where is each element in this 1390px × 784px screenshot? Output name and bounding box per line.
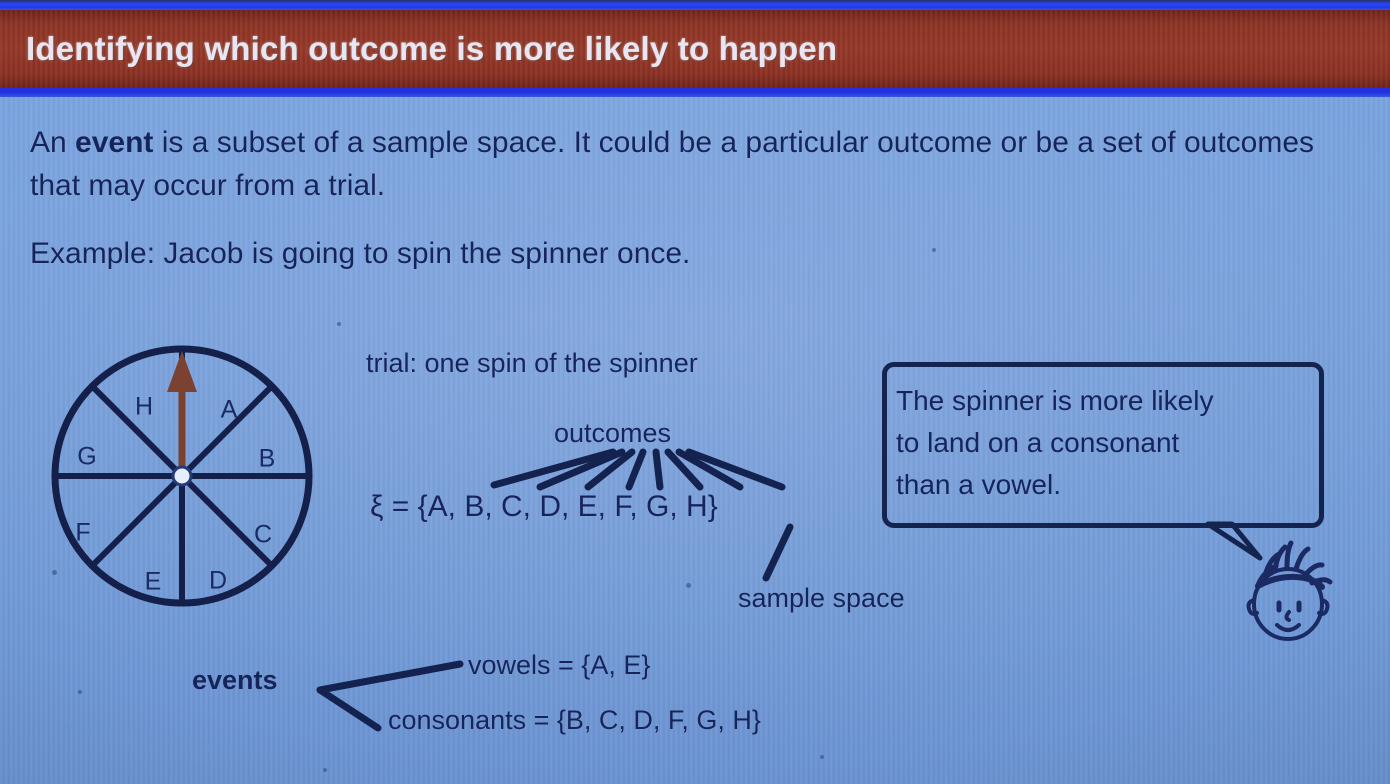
spinner-sector-D: D [209, 567, 227, 595]
spinner-sector-C: C [254, 521, 272, 549]
spinner-sector-E: E [145, 568, 162, 596]
spinner-diagram: A B C D E F G H [48, 342, 316, 610]
slide-banner: Identifying which outcome is more likely… [0, 10, 1390, 88]
label-sample-space: sample space [738, 583, 905, 614]
label-outcomes: outcomes [554, 418, 671, 449]
label-consonants-event: consonants = {B, C, D, F, G, H} [388, 705, 761, 736]
spinner-sector-G: G [77, 443, 96, 471]
cartoon-boy-face-icon [1232, 538, 1348, 654]
definition-text-rest: is a subset of a sample space. It could … [30, 126, 1314, 202]
dust-speck [52, 570, 57, 575]
label-sample-set: ξ = {A, B, C, D, E, F, G, H} [370, 490, 718, 524]
speech-bubble-line-1: The spinner is more likely [896, 380, 1316, 422]
label-trial: trial: one spin of the spinner [366, 348, 698, 379]
page-title: Identifying which outcome is more likely… [26, 30, 837, 68]
dust-speck [932, 248, 936, 252]
hair [1258, 543, 1330, 587]
dust-speck [820, 755, 824, 759]
slide-screenshot: Identifying which outcome is more likely… [0, 0, 1390, 784]
example-paragraph: Example: Jacob is going to spin the spin… [30, 233, 1350, 276]
definition-paragraph: An event is a subset of a sample space. … [30, 122, 1350, 207]
dust-speck [337, 322, 341, 326]
dust-speck [323, 768, 327, 772]
banner-underline-strip [0, 88, 1390, 97]
spinner-sector-B: B [259, 445, 276, 473]
spinner-sector-H: H [135, 393, 153, 421]
speech-bubble-line-3: than a vowel. [896, 464, 1316, 506]
spinner-needle-arrow-icon [167, 351, 197, 392]
definition-text-lead: An [30, 126, 75, 159]
spinner-sector-A: A [221, 396, 238, 424]
smile [1277, 625, 1299, 630]
nose [1287, 612, 1290, 620]
body-text-block: An event is a subset of a sample space. … [30, 122, 1350, 276]
label-vowels-event: vowels = {A, E} [468, 650, 650, 681]
speech-bubble-line-2: to land on a consonant [896, 422, 1316, 464]
label-events: events [192, 665, 278, 696]
spinner-sector-F: F [75, 519, 90, 547]
spinner-hub [173, 467, 191, 485]
dust-speck [78, 690, 82, 694]
dust-speck [686, 583, 691, 588]
spinner-svg: A B C D E F G H [48, 342, 316, 610]
definition-keyword: event [75, 126, 153, 159]
speech-bubble-text: The spinner is more likely to land on a … [896, 380, 1316, 506]
